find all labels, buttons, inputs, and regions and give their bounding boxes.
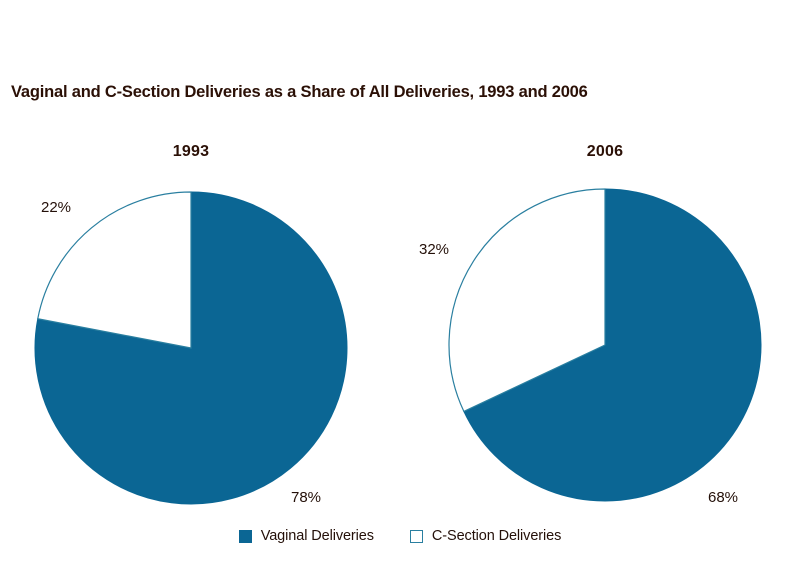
panel-title-2006: 2006 [545,143,665,161]
panel-title-1993: 1993 [131,143,251,161]
legend-label-vaginal: Vaginal Deliveries [261,528,374,544]
pie-chart-figure: Vaginal and C-Section Deliveries as a Sh… [0,0,800,563]
pie-2006 [445,185,765,505]
pie-1993 [31,188,351,508]
outline-square-icon [410,530,423,543]
legend-label-csection: C-Section Deliveries [432,528,561,544]
pct-label-csection-2006: 32% [419,241,449,258]
chart-title: Vaginal and C-Section Deliveries as a Sh… [11,83,588,102]
filled-square-icon [239,530,252,543]
pct-label-vaginal-2006: 68% [708,489,738,506]
pct-label-csection-1993: 22% [41,199,71,216]
pct-label-vaginal-1993: 78% [291,489,321,506]
legend-item-vaginal[interactable]: Vaginal Deliveries [239,528,374,544]
legend-item-csection[interactable]: C-Section Deliveries [410,528,561,544]
chart-legend: Vaginal Deliveries C-Section Deliveries [0,528,800,544]
